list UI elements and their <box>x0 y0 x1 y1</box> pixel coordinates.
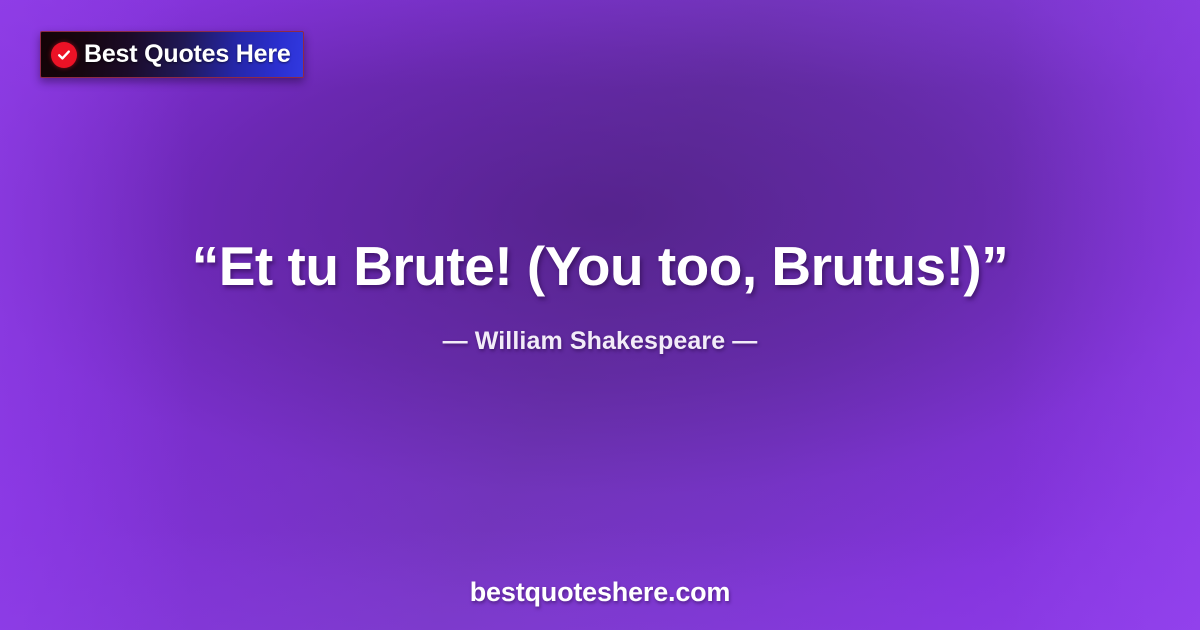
quote-text: “Et tu Brute! (You too, Brutus!)” <box>0 236 1200 298</box>
quote-card: Best Quotes Here “Et tu Brute! (You too,… <box>0 0 1200 630</box>
quote-block: “Et tu Brute! (You too, Brutus!)” — Will… <box>0 236 1200 356</box>
brand-badge-label: Best Quotes Here <box>84 42 291 67</box>
site-footer-url: bestquoteshere.com <box>0 577 1200 608</box>
check-circle-icon <box>51 42 77 68</box>
quote-author: — William Shakespeare — <box>0 327 1200 356</box>
brand-badge[interactable]: Best Quotes Here <box>40 31 304 78</box>
